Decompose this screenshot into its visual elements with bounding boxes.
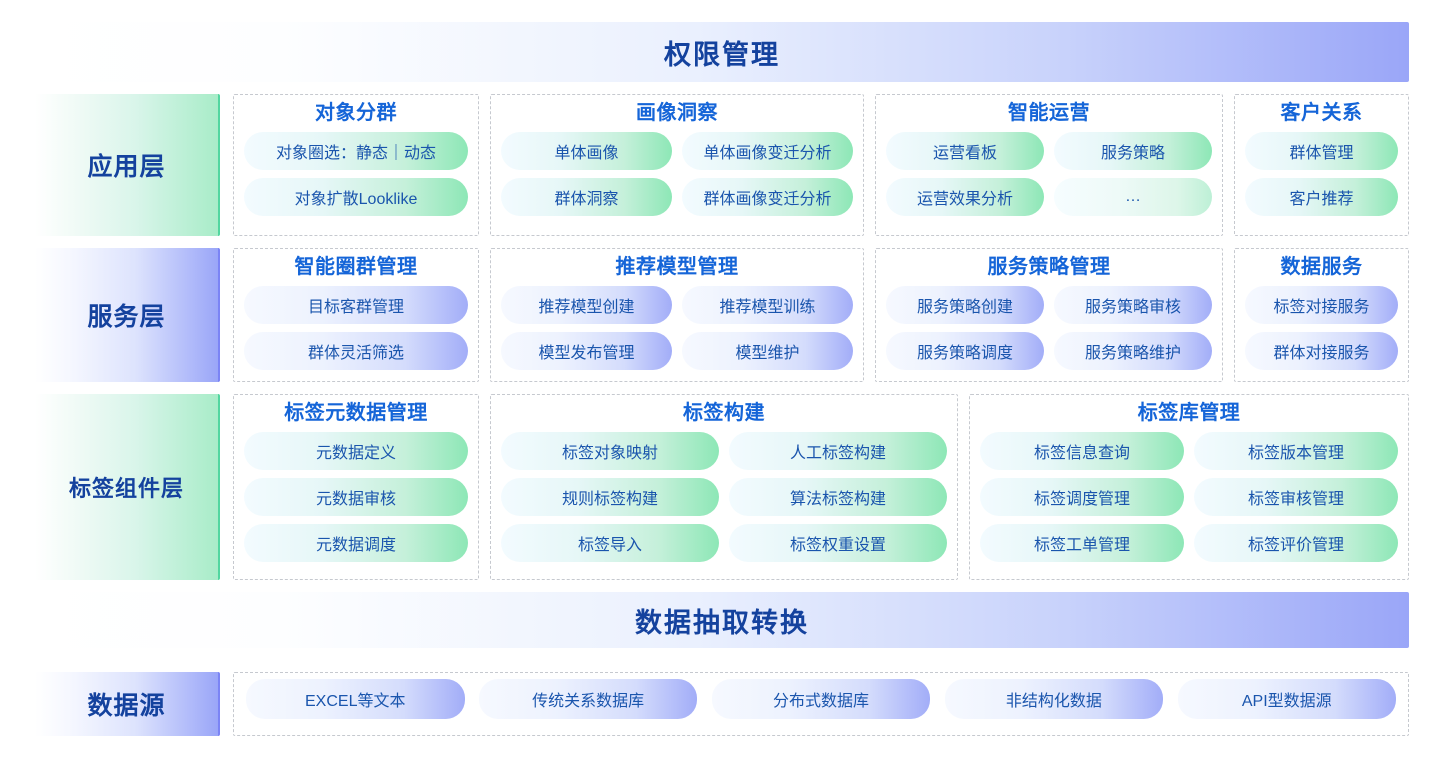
banner-data-extraction-transformation-title: 数据抽取转换 (635, 601, 809, 640)
pill-tag-weight-setting[interactable]: 标签权重设置 (729, 524, 947, 562)
group-data-source: EXCEL等文本 传统关系数据库 分布式数据库 非结构化数据 API型数据源 (233, 672, 1409, 736)
group-tag-metadata-management: 标签元数据管理 元数据定义 元数据审核 元数据调度 (233, 394, 479, 580)
architecture-diagram: 权限管理 应用层 对象分群 对象圈选：静态｜动态 对象扩散Looklike 画像… (0, 0, 1444, 766)
pill-manual-tag-construction[interactable]: 人工标签构建 (729, 432, 947, 470)
pill-tag-object-mapping[interactable]: 标签对象映射 (501, 432, 719, 470)
pill-tag-review-management[interactable]: 标签审核管理 (1194, 478, 1398, 516)
layer-groups-application: 对象分群 对象圈选：静态｜动态 对象扩散Looklike 画像洞察 单体画像 单… (233, 94, 1409, 236)
pill-excel-text[interactable]: EXCEL等文本 (246, 679, 465, 719)
pill-tag-scheduling-management[interactable]: 标签调度管理 (980, 478, 1184, 516)
pill-tag-interface-service[interactable]: 标签对接服务 (1245, 286, 1398, 324)
pill-operation-dashboard[interactable]: 运营看板 (886, 132, 1044, 170)
group-portrait-insight: 画像洞察 单体画像 单体画像变迁分析 群体洞察 群体画像变迁分析 (490, 94, 864, 236)
pill-group-insight[interactable]: 群体洞察 (501, 178, 672, 216)
group-smart-group-management-title: 智能圈群管理 (244, 255, 468, 280)
group-data-service: 数据服务 标签对接服务 群体对接服务 (1234, 248, 1409, 382)
pill-object-lookalike[interactable]: 对象扩散Looklike (244, 178, 468, 216)
group-service-strategy-management: 服务策略管理 服务策略创建 服务策略审核 服务策略调度 服务策略维护 (875, 248, 1223, 382)
pill-api-data-source[interactable]: API型数据源 (1178, 679, 1397, 719)
group-data-service-title: 数据服务 (1245, 255, 1398, 280)
pill-individual-portrait[interactable]: 单体画像 (501, 132, 672, 170)
pill-recommendation-model-train[interactable]: 推荐模型训练 (682, 286, 853, 324)
pill-tag-version-management[interactable]: 标签版本管理 (1194, 432, 1398, 470)
pill-model-release-management[interactable]: 模型发布管理 (501, 332, 672, 370)
pill-rule-tag-construction[interactable]: 规则标签构建 (501, 478, 719, 516)
layer-label-service-text: 服务层 (87, 297, 165, 333)
group-tag-construction: 标签构建 标签对象映射 人工标签构建 规则标签构建 算法标签构建 标签导入 标签… (490, 394, 958, 580)
group-tag-library-management-title: 标签库管理 (980, 401, 1398, 426)
pill-grid: 推荐模型创建 推荐模型训练 模型发布管理 模型维护 (501, 286, 853, 371)
pill-model-maintenance[interactable]: 模型维护 (682, 332, 853, 370)
layer-label-service: 服务层 (35, 248, 220, 382)
pill-tag-info-query[interactable]: 标签信息查询 (980, 432, 1184, 470)
layer-row-tag-component: 标签组件层 标签元数据管理 元数据定义 元数据审核 元数据调度 标签构建 标签对… (35, 394, 1409, 580)
pill-metadata-scheduling[interactable]: 元数据调度 (244, 524, 468, 562)
pill-tag-import[interactable]: 标签导入 (501, 524, 719, 562)
pill-group-management[interactable]: 群体管理 (1245, 132, 1398, 170)
pill-grid: 标签对接服务 群体对接服务 (1245, 286, 1398, 371)
layer-groups-tag-component: 标签元数据管理 元数据定义 元数据审核 元数据调度 标签构建 标签对象映射 人工… (233, 394, 1409, 580)
group-intelligent-operation: 智能运营 运营看板 服务策略 运营效果分析 … (875, 94, 1223, 236)
group-tag-metadata-management-title: 标签元数据管理 (244, 401, 468, 426)
layer-label-data-source: 数据源 (35, 672, 220, 736)
pill-group-flexible-filtering[interactable]: 群体灵活筛选 (244, 332, 468, 370)
layer-label-application-text: 应用层 (87, 147, 165, 183)
group-tag-library-management: 标签库管理 标签信息查询 标签版本管理 标签调度管理 标签审核管理 标签工单管理… (969, 394, 1409, 580)
pill-service-strategy-create[interactable]: 服务策略创建 (886, 286, 1044, 324)
pill-distributed-database[interactable]: 分布式数据库 (712, 679, 931, 719)
pill-service-strategy[interactable]: 服务策略 (1054, 132, 1212, 170)
banner-data-extraction-transformation: 数据抽取转换 (35, 592, 1409, 648)
group-recommendation-model-management: 推荐模型管理 推荐模型创建 推荐模型训练 模型发布管理 模型维护 (490, 248, 864, 382)
pill-group-interface-service[interactable]: 群体对接服务 (1245, 332, 1398, 370)
layer-row-service: 服务层 智能圈群管理 目标客群管理 群体灵活筛选 推荐模型管理 推荐模型创建 推… (35, 248, 1409, 382)
pill-grid: 服务策略创建 服务策略审核 服务策略调度 服务策略维护 (886, 286, 1212, 371)
pill-service-strategy-maintenance[interactable]: 服务策略维护 (1054, 332, 1212, 370)
pill-unstructured-data[interactable]: 非结构化数据 (945, 679, 1164, 719)
pill-grid: 对象圈选：静态｜动态 对象扩散Looklike (244, 132, 468, 225)
group-customer-relationship: 客户关系 群体管理 客户推荐 (1234, 94, 1409, 236)
pill-object-circle-selection[interactable]: 对象圈选：静态｜动态 (244, 132, 468, 170)
pill-grid: 元数据定义 元数据审核 元数据调度 (244, 432, 468, 569)
pill-metadata-definition[interactable]: 元数据定义 (244, 432, 468, 470)
group-portrait-insight-title: 画像洞察 (501, 101, 853, 126)
group-object-segmentation-title: 对象分群 (244, 101, 468, 126)
layer-label-data-source-text: 数据源 (87, 686, 165, 722)
pill-grid: 目标客群管理 群体灵活筛选 (244, 286, 468, 371)
pill-tag-work-order-management[interactable]: 标签工单管理 (980, 524, 1184, 562)
pill-target-customer-group-management[interactable]: 目标客群管理 (244, 286, 468, 324)
pill-traditional-relational-database[interactable]: 传统关系数据库 (479, 679, 698, 719)
pill-metadata-review[interactable]: 元数据审核 (244, 478, 468, 516)
pill-grid: 单体画像 单体画像变迁分析 群体洞察 群体画像变迁分析 (501, 132, 853, 225)
pill-service-strategy-scheduling[interactable]: 服务策略调度 (886, 332, 1044, 370)
pill-more-ellipsis[interactable]: … (1054, 178, 1212, 216)
pill-individual-portrait-change-analysis[interactable]: 单体画像变迁分析 (682, 132, 853, 170)
pill-grid: EXCEL等文本 传统关系数据库 分布式数据库 非结构化数据 API型数据源 (246, 679, 1396, 729)
pill-customer-recommendation[interactable]: 客户推荐 (1245, 178, 1398, 216)
pill-algorithm-tag-construction[interactable]: 算法标签构建 (729, 478, 947, 516)
pill-grid: 标签对象映射 人工标签构建 规则标签构建 算法标签构建 标签导入 标签权重设置 (501, 432, 947, 569)
pill-service-strategy-review[interactable]: 服务策略审核 (1054, 286, 1212, 324)
group-object-segmentation: 对象分群 对象圈选：静态｜动态 对象扩散Looklike (233, 94, 479, 236)
layer-groups-service: 智能圈群管理 目标客群管理 群体灵活筛选 推荐模型管理 推荐模型创建 推荐模型训… (233, 248, 1409, 382)
pill-grid: 标签信息查询 标签版本管理 标签调度管理 标签审核管理 标签工单管理 标签评价管… (980, 432, 1398, 569)
banner-permission-management-title: 权限管理 (664, 33, 780, 72)
layer-row-data-source: 数据源 EXCEL等文本 传统关系数据库 分布式数据库 非结构化数据 API型数… (35, 672, 1409, 736)
layer-row-application: 应用层 对象分群 对象圈选：静态｜动态 对象扩散Looklike 画像洞察 单体… (35, 94, 1409, 236)
pill-operation-effect-analysis[interactable]: 运营效果分析 (886, 178, 1044, 216)
layer-label-tag-component-text: 标签组件层 (69, 471, 184, 503)
layer-groups-data-source: EXCEL等文本 传统关系数据库 分布式数据库 非结构化数据 API型数据源 (233, 672, 1409, 736)
pill-tag-evaluation-management[interactable]: 标签评价管理 (1194, 524, 1398, 562)
group-recommendation-model-management-title: 推荐模型管理 (501, 255, 853, 280)
group-tag-construction-title: 标签构建 (501, 401, 947, 426)
pill-group-portrait-change-analysis[interactable]: 群体画像变迁分析 (682, 178, 853, 216)
layer-label-tag-component: 标签组件层 (35, 394, 220, 580)
banner-permission-management: 权限管理 (35, 22, 1409, 82)
group-customer-relationship-title: 客户关系 (1245, 101, 1398, 126)
pill-recommendation-model-create[interactable]: 推荐模型创建 (501, 286, 672, 324)
layer-label-application: 应用层 (35, 94, 220, 236)
pill-grid: 运营看板 服务策略 运营效果分析 … (886, 132, 1212, 225)
group-intelligent-operation-title: 智能运营 (886, 101, 1212, 126)
group-smart-group-management: 智能圈群管理 目标客群管理 群体灵活筛选 (233, 248, 479, 382)
group-service-strategy-management-title: 服务策略管理 (886, 255, 1212, 280)
pill-grid: 群体管理 客户推荐 (1245, 132, 1398, 225)
